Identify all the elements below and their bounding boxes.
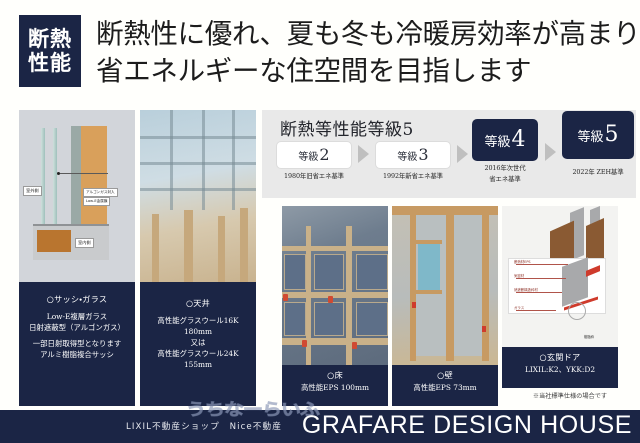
ceiling-spec-1: 高性能グラスウール16K <box>140 315 256 326</box>
grade-step-2-caption: 1980年旧省エネ基準 <box>276 172 352 180</box>
door-diagram-label-5: 樹脂枠 <box>584 334 594 339</box>
grade-step-3-number: 3 <box>418 147 428 163</box>
grade-step-5-number: 5 <box>605 124 619 146</box>
wall-heading: ○壁 <box>392 370 498 382</box>
page-title: 断熱性に優れ、夏も冬も冷暖房効率が高まり 省エネルギーな住空間を目指します <box>96 16 636 89</box>
door-diagram-label-3: 熱遮断構造枠材 <box>514 287 538 292</box>
ceiling-spec-5: 155mm <box>140 359 256 370</box>
floor-spec-1: 高性能EPS 100mm <box>282 382 388 393</box>
ceiling-photo <box>140 110 256 282</box>
grade-step-3-box: 等級 3 <box>375 141 451 169</box>
header-badge-line1: 断熱 <box>28 27 72 51</box>
window-caption: ○サッシ・ガラス Low-E複層ガラス 日射遮蔽型（アルゴンガス） 一部日射取得… <box>19 282 135 406</box>
grade-step-3: 等級 3 1992年新省エネ基準 <box>375 141 451 180</box>
shop-name: LIXIL不動産ショップ Nice不動産 <box>126 420 282 432</box>
watermark: うちなーらいふ <box>186 396 319 420</box>
page-title-line1: 断熱性に優れ、夏も冬も冷暖房効率が高まり <box>96 16 636 53</box>
ceiling-spec-2: 180mm <box>140 326 256 337</box>
grade-step-4-caption-line2: 省エネ基準 <box>472 175 538 183</box>
wall-photo <box>392 206 498 365</box>
floor-heading: ○床 <box>282 370 388 382</box>
diagram-label-gas: アルゴンガス封入 <box>83 188 118 197</box>
grade-step-3-caption: 1992年新省エネ基準 <box>375 172 451 180</box>
door-caption: ○玄関ドア LIXIL:K2、YKK:D2 <box>502 347 618 388</box>
floor-photo <box>282 206 388 365</box>
window-spec-4: アルミ樹脂複合サッシ <box>19 349 135 360</box>
grade-step-4-caption-line1: 2016年次世代 <box>472 164 538 172</box>
panel-window-sash: 室外側 アルゴンガス封入 Low-E金属膜 室内側 ○サッシ・ガラス Low-E… <box>19 110 135 406</box>
grade-step-5-label: 等級 <box>577 126 603 145</box>
door-diagram-label-4: ガラス <box>514 305 524 310</box>
grade-steps-row: 等級 2 1980年旧省エネ基準 等級 3 1992年新省エネ基準 等級 4 <box>262 141 636 196</box>
arrow-right-icon-1 <box>358 145 369 163</box>
window-heading: ○サッシ・ガラス <box>19 294 135 306</box>
grade-step-4-label: 等級 <box>484 131 510 150</box>
poster-root: 断熱 性能 断熱性に優れ、夏も冬も冷暖房効率が高まり 省エネルギーな住空間を目指… <box>0 0 640 443</box>
ceiling-spec-4: 高性能グラスウール24K <box>140 348 256 359</box>
grade-step-4-number: 4 <box>512 129 526 151</box>
panel-entrance-door: 断熱材EPS 気密材 熱遮断構造枠材 ガラス 樹脂枠 ○玄関ドア LIXIL:K… <box>502 206 618 388</box>
insulation-grade-panel: 断熱等性能等級5 等級 2 1980年旧省エネ基準 等級 3 1992年新省エネ… <box>262 110 636 198</box>
panel-wall: ○壁 高性能EPS 73mm <box>392 206 498 406</box>
door-heading: ○玄関ドア <box>502 352 618 364</box>
window-spec-1: Low-E複層ガラス <box>19 311 135 322</box>
grade-step-4-box: 等級 4 <box>472 119 538 161</box>
diagram-label-lowe: Low-E金属膜 <box>83 197 110 206</box>
grade-step-5-caption: 2022年 ZEH基準 <box>562 168 634 176</box>
grade-panel-title: 断熱等性能等級5 <box>280 115 414 140</box>
grade-step-2-number: 2 <box>319 147 329 163</box>
page-title-line2: 省エネルギーな住空間を目指します <box>96 53 636 90</box>
grade-step-2: 等級 2 1980年旧省エネ基準 <box>276 141 352 180</box>
panel-floor: ○床 高性能EPS 100mm <box>282 206 388 406</box>
door-diagram-label-1: 断熱材EPS <box>514 259 531 264</box>
ceiling-caption: ○天井 高性能グラスウール16K 180mm 又は 高性能グラスウール24K 1… <box>140 282 256 406</box>
diagram-label-outside: 室外側 <box>23 186 42 196</box>
wall-spec-1: 高性能EPS 73mm <box>392 382 498 393</box>
window-spec-3: 一部日射取得型となります <box>19 338 135 349</box>
header: 断熱 性能 断熱性に優れ、夏も冬も冷暖房効率が高まり 省エネルギーな住空間を目指… <box>0 0 640 103</box>
header-badge-line2: 性能 <box>28 51 72 75</box>
ceiling-heading: ○天井 <box>140 298 256 310</box>
grade-step-2-box: 等級 2 <box>276 141 352 169</box>
panel-ceiling: ○天井 高性能グラスウール16K 180mm 又は 高性能グラスウール24K 1… <box>140 110 256 406</box>
grade-step-3-label: 等級 <box>397 148 417 163</box>
diagram-label-inside: 室内側 <box>75 238 94 248</box>
door-spec-1: LIXIL:K2、YKK:D2 <box>502 364 618 375</box>
arrow-right-icon-3 <box>545 143 556 161</box>
grade-step-5-box: 等級 5 <box>562 111 634 159</box>
header-badge: 断熱 性能 <box>19 15 81 87</box>
arrow-right-icon-2 <box>457 145 468 163</box>
grade-step-4: 等級 4 2016年次世代 省エネ基準 <box>472 119 538 184</box>
grade-step-5: 等級 5 2022年 ZEH基準 <box>562 111 634 176</box>
ceiling-spec-3: 又は <box>140 337 256 348</box>
grade-step-2-label: 等級 <box>298 148 318 163</box>
brand-logo: GRAFARE DESIGN HOUSE <box>302 411 632 440</box>
door-diagram-label-2: 気密材 <box>514 273 524 278</box>
door-cross-section-diagram: 断熱材EPS 気密材 熱遮断構造枠材 ガラス 樹脂枠 <box>502 206 618 347</box>
wall-caption: ○壁 高性能EPS 73mm <box>392 365 498 406</box>
window-cross-section-diagram: 室外側 アルゴンガス封入 Low-E金属膜 室内側 <box>19 110 135 282</box>
window-spec-2: 日射遮蔽型（アルゴンガス） <box>19 322 135 333</box>
footnote: ※当社標準仕様の場合です <box>504 391 636 400</box>
